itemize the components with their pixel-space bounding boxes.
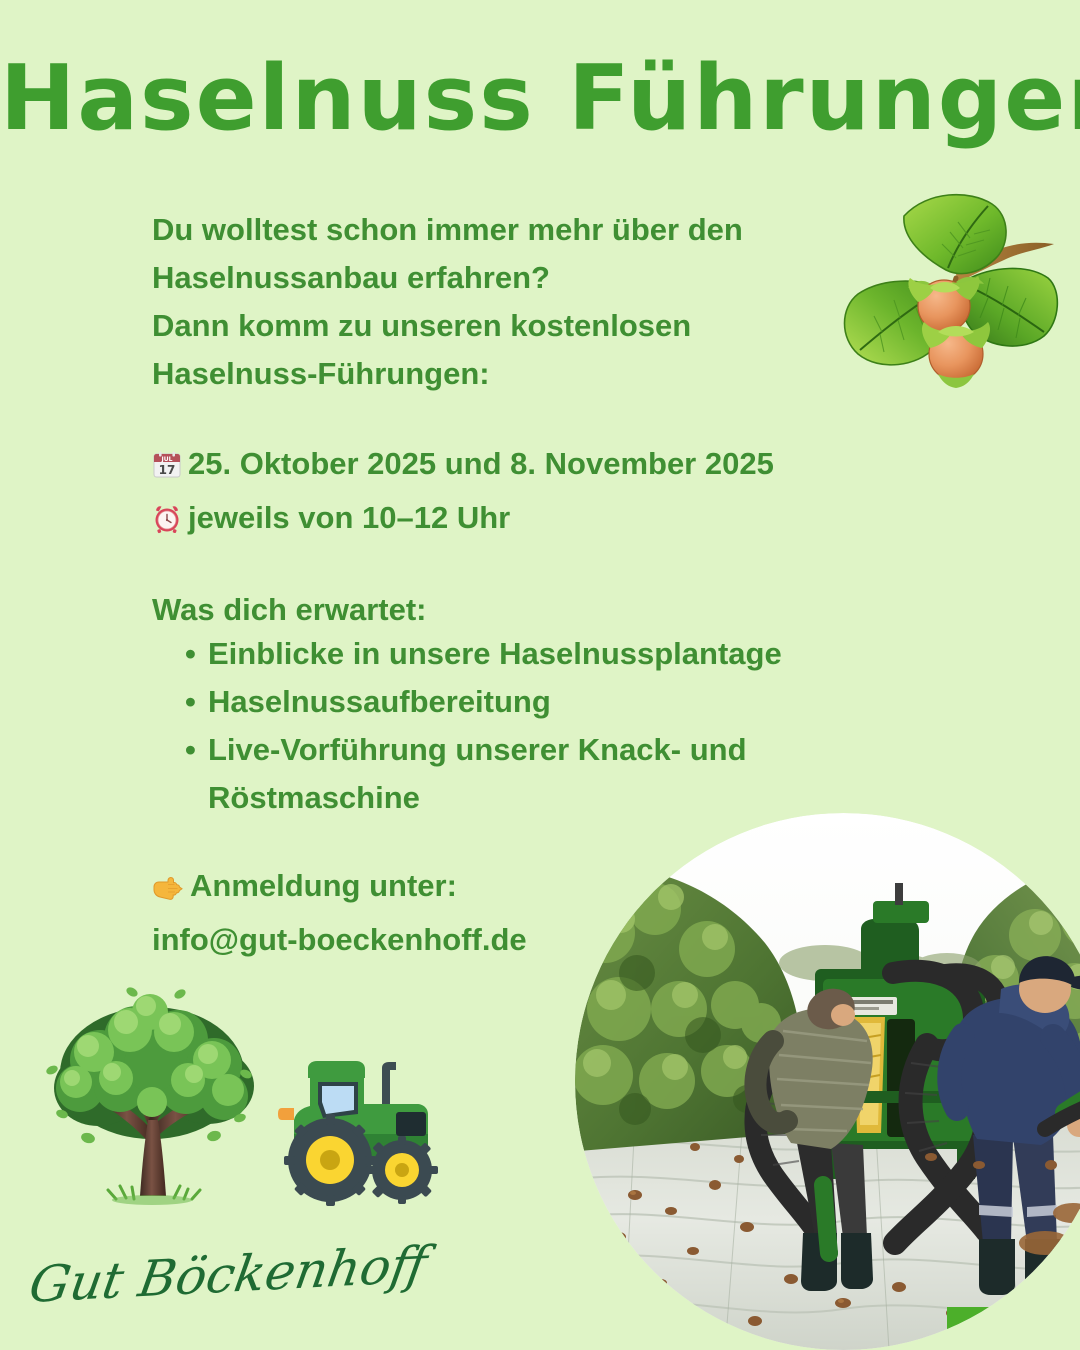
dates-text: 25. Oktober 2025 und 8. November 2025 <box>188 446 774 481</box>
page-title: Haselnuss Führungen <box>0 52 1080 147</box>
intro-line-3: Dann komm zu unseren kostenlosen <box>152 302 852 350</box>
dates-row: JUL 17 25. Oktober 2025 und 8. November … <box>152 440 912 494</box>
signup-label: Anmeldung unter: <box>190 868 457 903</box>
list-item: Haselnussaufbereitung <box>152 678 892 726</box>
intro-line-4: Haselnuss-Führungen: <box>152 350 852 398</box>
intro-paragraph: Du wolltest schon immer mehr über den Ha… <box>152 206 852 398</box>
svg-text:17: 17 <box>159 463 176 477</box>
intro-line-2: Haselnussanbau erfahren? <box>152 254 852 302</box>
svg-text:JUL: JUL <box>161 456 173 463</box>
dates-block: JUL 17 25. Oktober 2025 und 8. November … <box>152 440 912 548</box>
expect-heading: Was dich erwartet: <box>152 586 852 634</box>
signature-text: Gut Böckenhoff <box>25 1239 367 1314</box>
time-text: jeweils von 10–12 Uhr <box>188 500 510 535</box>
intro-line-1: Du wolltest schon immer mehr über den <box>152 206 852 254</box>
pointing-hand-right-icon <box>152 868 184 916</box>
alarm-clock-icon <box>152 500 182 548</box>
calendar-icon: JUL 17 <box>152 446 182 494</box>
time-row: jeweils von 10–12 Uhr <box>152 494 912 548</box>
hazelnut-harvest-photo <box>575 813 1080 1350</box>
brand-signature: Gut Böckenhoff <box>30 1256 360 1336</box>
tractor-icon <box>268 1048 448 1214</box>
tree-icon <box>28 968 276 1216</box>
list-item: Live-Vorführung unserer Knack- und Röstm… <box>152 726 892 822</box>
list-item: Einblicke in unsere Haselnussplantage <box>152 630 892 678</box>
expect-list: Einblicke in unsere Haselnussplantage Ha… <box>152 630 892 822</box>
poster: Haselnuss Führungen <box>0 0 1080 1350</box>
signup-label-row: Anmeldung unter: <box>152 862 712 916</box>
